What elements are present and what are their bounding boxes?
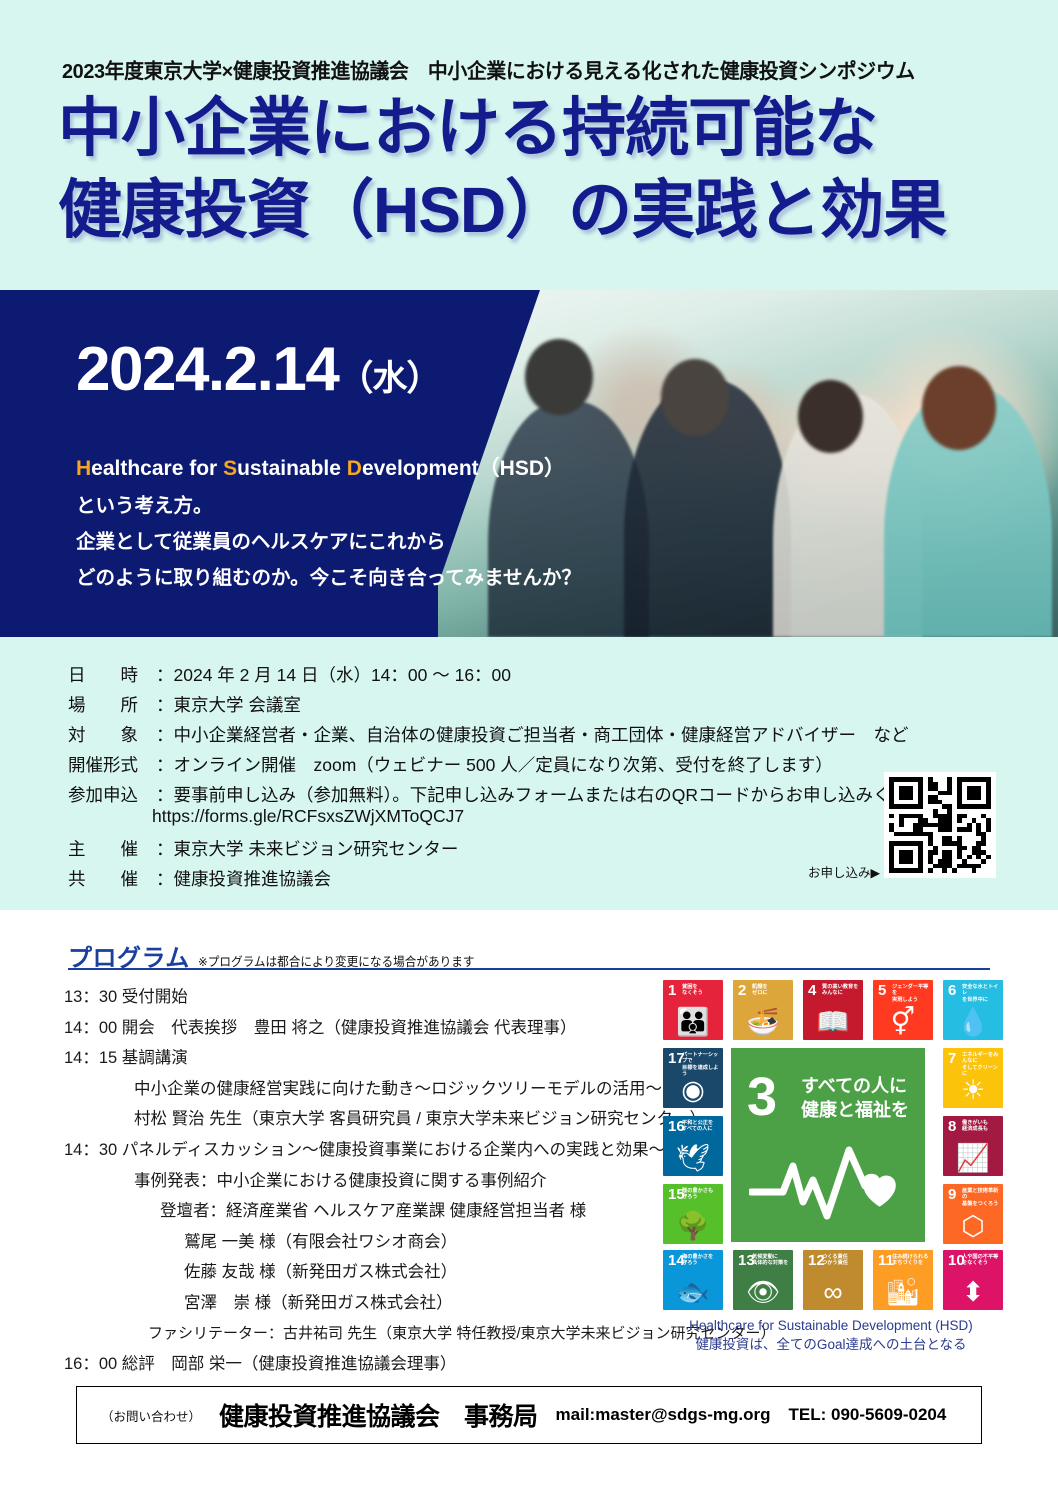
event-date-value: 2024.2.14 — [76, 335, 338, 404]
hsd-english-line: Healthcare for Sustainable Development（H… — [76, 452, 565, 482]
sdg-goal-7-icon: ☀ — [943, 1077, 1003, 1104]
sdg-goal-17-caption: パートナーシップで目標を達成しよう — [682, 1052, 720, 1078]
photo-head-2 — [661, 359, 729, 435]
photo-head-1 — [525, 339, 593, 415]
hero-description: という考え方。 企業として従業員のヘルスケアにこれから どのように取り組むのか。… — [76, 488, 581, 596]
sdg-goal-11-tile: 11住み続けられるまちづくりを🏙 — [873, 1250, 933, 1310]
sdg-goal-1-icon: 👪 — [663, 1009, 723, 1036]
detail-label: 日 時 — [68, 662, 156, 687]
qr-code[interactable] — [884, 772, 996, 878]
sdg-goal-13-icon: 👁 — [733, 1279, 793, 1306]
detail-value: ：中小企業経営者・企業、自治体の健康投資ご担当者・商工団体・健康経営アドバイザー… — [156, 725, 909, 745]
detail-label: 参加申込 — [68, 782, 156, 807]
program-line: 鷲尾 一美 様（有限会社ワシオ商会） — [64, 1227, 664, 1258]
sdg-goal-1-caption: 貧困をなくそう — [682, 984, 720, 997]
sdg-goal-4-caption: 質の高い教育をみんなに — [822, 984, 860, 997]
sdg-goal-2-caption: 飢餓をゼロに — [752, 984, 790, 997]
sdg-goal-15-icon: 🌳 — [663, 1213, 723, 1240]
sdg-goal-1-number: 1 — [668, 983, 676, 998]
sdg-goal-16-tile: 16平和と公正をすべての人に🕊 — [663, 1116, 723, 1176]
detail-row: 開催形式：オンライン開催 zoom（ウェビナー 500 人／定員になり次第、受付… — [68, 752, 833, 777]
page-title: 中小企業における持続可能な 健康投資（HSD）の実践と効果 — [58, 88, 1008, 252]
sdg-goal-5-tile: 5ジェンダー平等を実現しよう⚥ — [873, 980, 933, 1040]
sdg-goal-7-caption: エネルギーをみんなにそしてクリーンに — [962, 1052, 1000, 1078]
program-line: 事例発表：中小企業における健康投資に関する事例紹介 — [64, 1166, 664, 1197]
photo-head-3 — [798, 380, 863, 453]
hsd-text-2: ustainable — [237, 457, 347, 480]
detail-value: ：東京大学 会議室 — [156, 695, 301, 715]
detail-row: 参加申込：要事前申し込み（参加無料）。下記申し込みフォームまたは右のQRコードか… — [68, 782, 960, 807]
contact-phone[interactable]: TEL: 090-5609-0204 — [789, 1405, 947, 1425]
hsd-d: D — [347, 457, 362, 480]
program-line: 14：00 開会 代表挨拶 豊田 将之（健康投資推進協議会 代表理事） — [64, 1013, 664, 1044]
sdg-goal-3-text: すべての人に 健康と福祉を — [801, 1074, 909, 1122]
program-line: 宮澤 崇 様（新発田ガス株式会社） — [64, 1288, 664, 1319]
program-line: 中小企業の健康経営実践に向けた動き～ロジックツリーモデルの活用～ — [64, 1074, 664, 1105]
sdg-goal-15-tile: 15陸の豊かさも守ろう🌳 — [663, 1184, 723, 1244]
contact-email[interactable]: mail:master@sdgs-mg.org — [556, 1405, 771, 1425]
sdg-goal-14-tile: 14海の豊かさを守ろう🐟 — [663, 1250, 723, 1310]
sdg-goal-5-icon: ⚥ — [873, 1009, 933, 1036]
inquiry-label: （お問い合わせ） — [101, 1406, 201, 1425]
sdg-goal-8-icon: 📈 — [943, 1145, 1003, 1172]
sdg-goal-15-caption: 陸の豊かさも守ろう — [682, 1188, 720, 1201]
sdg-goal-14-caption: 海の豊かさを守ろう — [682, 1254, 720, 1267]
sdg-goal-16-icon: 🕊 — [663, 1145, 723, 1172]
organization-name: 健康投資推進協議会 事務局 — [219, 1397, 538, 1433]
sdg-goal-5-caption: ジェンダー平等を実現しよう — [892, 984, 930, 1003]
sdg-goal-17-tile: 17パートナーシップで目標を達成しよう◉ — [663, 1048, 723, 1108]
sdg-goal-6-caption: 安全な水とトイレを世界中に — [962, 984, 1000, 1003]
sdg-goal-3-line1: すべての人に — [801, 1074, 909, 1098]
sdg-caption: Healthcare for Sustainable Development (… — [655, 1316, 1007, 1354]
sdg-goal-8-number: 8 — [948, 1119, 956, 1134]
sdg-goal-7-tile: 7エネルギーをみんなにそしてクリーンに☀ — [943, 1048, 1003, 1108]
sdg-goal-3-line2: 健康と福祉を — [801, 1098, 909, 1122]
program-schedule-list: 13：30 受付開始14：00 開会 代表挨拶 豊田 将之（健康投資推進協議会 … — [64, 982, 664, 1410]
detail-row: 場 所：東京大学 会議室 — [68, 692, 301, 717]
sdg-goal-10-caption: 人や国の不平等をなくそう — [962, 1254, 1000, 1267]
program-line: ファシリテーター：古井祐司 先生（東京大学 特任教授/東京大学未来ビジョン研究セ… — [64, 1319, 664, 1350]
hero-band: 2024.2.14（水） Healthcare for Sustainable … — [0, 290, 1058, 637]
page-title-line2: 健康投資（HSD）の実践と効果 — [58, 170, 1008, 252]
program-line: 13：30 受付開始 — [64, 982, 664, 1013]
sdg-goal-10-icon: ⬍ — [943, 1279, 1003, 1306]
sdg-goal-8-tile: 8働きがいも経済成長も📈 — [943, 1116, 1003, 1176]
detail-row: 主 催：東京大学 未来ビジョン研究センター — [68, 836, 458, 861]
sdg-goal-9-caption: 産業と技術革新の基盤をつくろう — [962, 1188, 1000, 1207]
event-day-of-week: （水） — [338, 359, 440, 398]
page-title-line1: 中小企業における持続可能な — [58, 92, 877, 164]
sdg-goal-6-tile: 6安全な水とトイレを世界中に💧 — [943, 980, 1003, 1040]
program-line: 14：30 パネルディスカッション～健康投資事業における企業内への実践と効果～ — [64, 1135, 664, 1166]
kicker-text: 2023年度東京大学×健康投資推進協議会 中小企業における見える化された健康投資… — [62, 54, 915, 84]
sdg-goal-4-icon: 📖 — [803, 1009, 863, 1036]
detail-label: 対 象 — [68, 722, 156, 747]
hero-desc-line-3: どのように取り組むのか。今こそ向き合ってみませんか？ — [76, 560, 581, 596]
sdg-goal-7-number: 7 — [948, 1051, 956, 1066]
top-banner: 2023年度東京大学×健康投資推進協議会 中小企業における見える化された健康投資… — [0, 0, 1058, 290]
qr-module — [986, 868, 991, 873]
sdg-goal-17-icon: ◉ — [663, 1077, 723, 1104]
sdg-goal-11-icon: 🏙 — [873, 1279, 933, 1306]
detail-value: ：2024 年 2 月 14 日（水）14：00 ～ 16：00 — [156, 665, 511, 685]
sdg-goal-12-caption: つくる責任つかう責任 — [822, 1254, 860, 1267]
sdg-wheel: 3 すべての人に 健康と福祉を 1貧困をなくそう👪2飢餓をゼロに🍜4質の高い教育… — [663, 980, 1003, 1310]
program-line: 佐藤 友哉 様（新発田ガス株式会社） — [64, 1257, 664, 1288]
sdg-goal-3-center: 3 すべての人に 健康と福祉を — [731, 1048, 925, 1242]
sdg-goal-10-tile: 10人や国の不平等をなくそう⬍ — [943, 1250, 1003, 1310]
sdg-goal-2-tile: 2飢餓をゼロに🍜 — [733, 980, 793, 1040]
sdg-goal-13-caption: 気候変動に具体的な対策を — [752, 1254, 790, 1267]
sdg-goal-9-number: 9 — [948, 1187, 956, 1202]
sdg-goal-6-number: 6 — [948, 983, 956, 998]
program-line: 16：00 総評 岡部 栄一（健康投資推進協議会理事） — [64, 1349, 664, 1380]
detail-value: ：要事前申し込み（参加無料）。下記申し込みフォームまたは右のQRコードからお申し… — [156, 785, 960, 805]
sdg-goal-2-icon: 🍜 — [733, 1009, 793, 1036]
detail-label: 場 所 — [68, 692, 156, 717]
sdg-goal-14-icon: 🐟 — [663, 1279, 723, 1306]
hero-desc-line-2: 企業として従業員のヘルスケアにこれから — [76, 524, 581, 560]
photo-head-4 — [922, 366, 996, 449]
hsd-s: S — [223, 457, 237, 480]
hsd-h: H — [76, 457, 91, 480]
application-form-url[interactable]: https://forms.gle/RCFsxsZWjXMToQCJ7 — [152, 806, 464, 827]
sdg-tiles-grid: 3 すべての人に 健康と福祉を 1貧困をなくそう👪2飢餓をゼロに🍜4質の高い教育… — [663, 980, 1003, 1310]
hsd-text-1: ealthcare for — [91, 457, 223, 480]
sdg-goal-1-tile: 1貧困をなくそう👪 — [663, 980, 723, 1040]
program-line: 登壇者：経済産業省 ヘルスケア産業課 健康経営担当者 様 — [64, 1196, 664, 1227]
sdg-goal-2-number: 2 — [738, 983, 746, 998]
event-date: 2024.2.14（水） — [76, 334, 440, 405]
sdg-goal-4-number: 4 — [808, 983, 816, 998]
sdg-goal-9-tile: 9産業と技術革新の基盤をつくろう⬡ — [943, 1184, 1003, 1244]
detail-row: 対 象：中小企業経営者・企業、自治体の健康投資ご担当者・商工団体・健康経営アドバ… — [68, 722, 909, 747]
sdg-goal-11-caption: 住み続けられるまちづくりを — [892, 1254, 930, 1267]
sdg-goal-4-tile: 4質の高い教育をみんなに📖 — [803, 980, 863, 1040]
contact-footer: （お問い合わせ） 健康投資推進協議会 事務局 mail:master@sdgs-… — [76, 1386, 982, 1444]
detail-label: 共 催 — [68, 866, 156, 891]
detail-row: 共 催：健康投資推進協議会 — [68, 866, 331, 891]
detail-row: 日 時：2024 年 2 月 14 日（水）14：00 ～ 16：00 — [68, 662, 511, 687]
program-divider — [68, 968, 990, 970]
sdg-goal-9-icon: ⬡ — [943, 1213, 1003, 1240]
heartbeat-icon — [749, 1140, 909, 1220]
sdg-goal-12-tile: 12つくる責任つかう責任∞ — [803, 1250, 863, 1310]
sdg-goal-13-tile: 13気候変動に具体的な対策を👁 — [733, 1250, 793, 1310]
hero-desc-line-1: という考え方。 — [76, 488, 581, 524]
detail-value: ：健康投資推進協議会 — [156, 869, 331, 889]
program-line: 14：15 基調講演 — [64, 1043, 664, 1074]
sdg-caption-line2: 健康投資は、全てのGoal達成への土台となる — [655, 1335, 1007, 1354]
detail-label: 主 催 — [68, 836, 156, 861]
sdg-goal-16-caption: 平和と公正をすべての人に — [682, 1120, 720, 1133]
detail-value: ：オンライン開催 zoom（ウェビナー 500 人／定員になり次第、受付を終了し… — [156, 755, 833, 775]
qr-code-label: お申し込み▶ — [808, 862, 880, 881]
detail-label: 開催形式 — [68, 752, 156, 777]
detail-value: ：東京大学 未来ビジョン研究センター — [156, 839, 458, 859]
sdg-goal-12-icon: ∞ — [803, 1279, 863, 1306]
sdg-goal-5-number: 5 — [878, 983, 886, 998]
sdg-goal-3-number: 3 — [747, 1070, 777, 1124]
program-line: 村松 賢治 先生（東京大学 客員研究員 / 東京大学未来ビジョン研究センター） — [64, 1104, 664, 1135]
sdg-caption-line1: Healthcare for Sustainable Development (… — [655, 1316, 1007, 1335]
sdg-goal-6-icon: 💧 — [943, 1009, 1003, 1036]
hsd-text-3: evelopment（HSD） — [362, 457, 565, 480]
sdg-goal-8-caption: 働きがいも経済成長も — [962, 1120, 1000, 1133]
